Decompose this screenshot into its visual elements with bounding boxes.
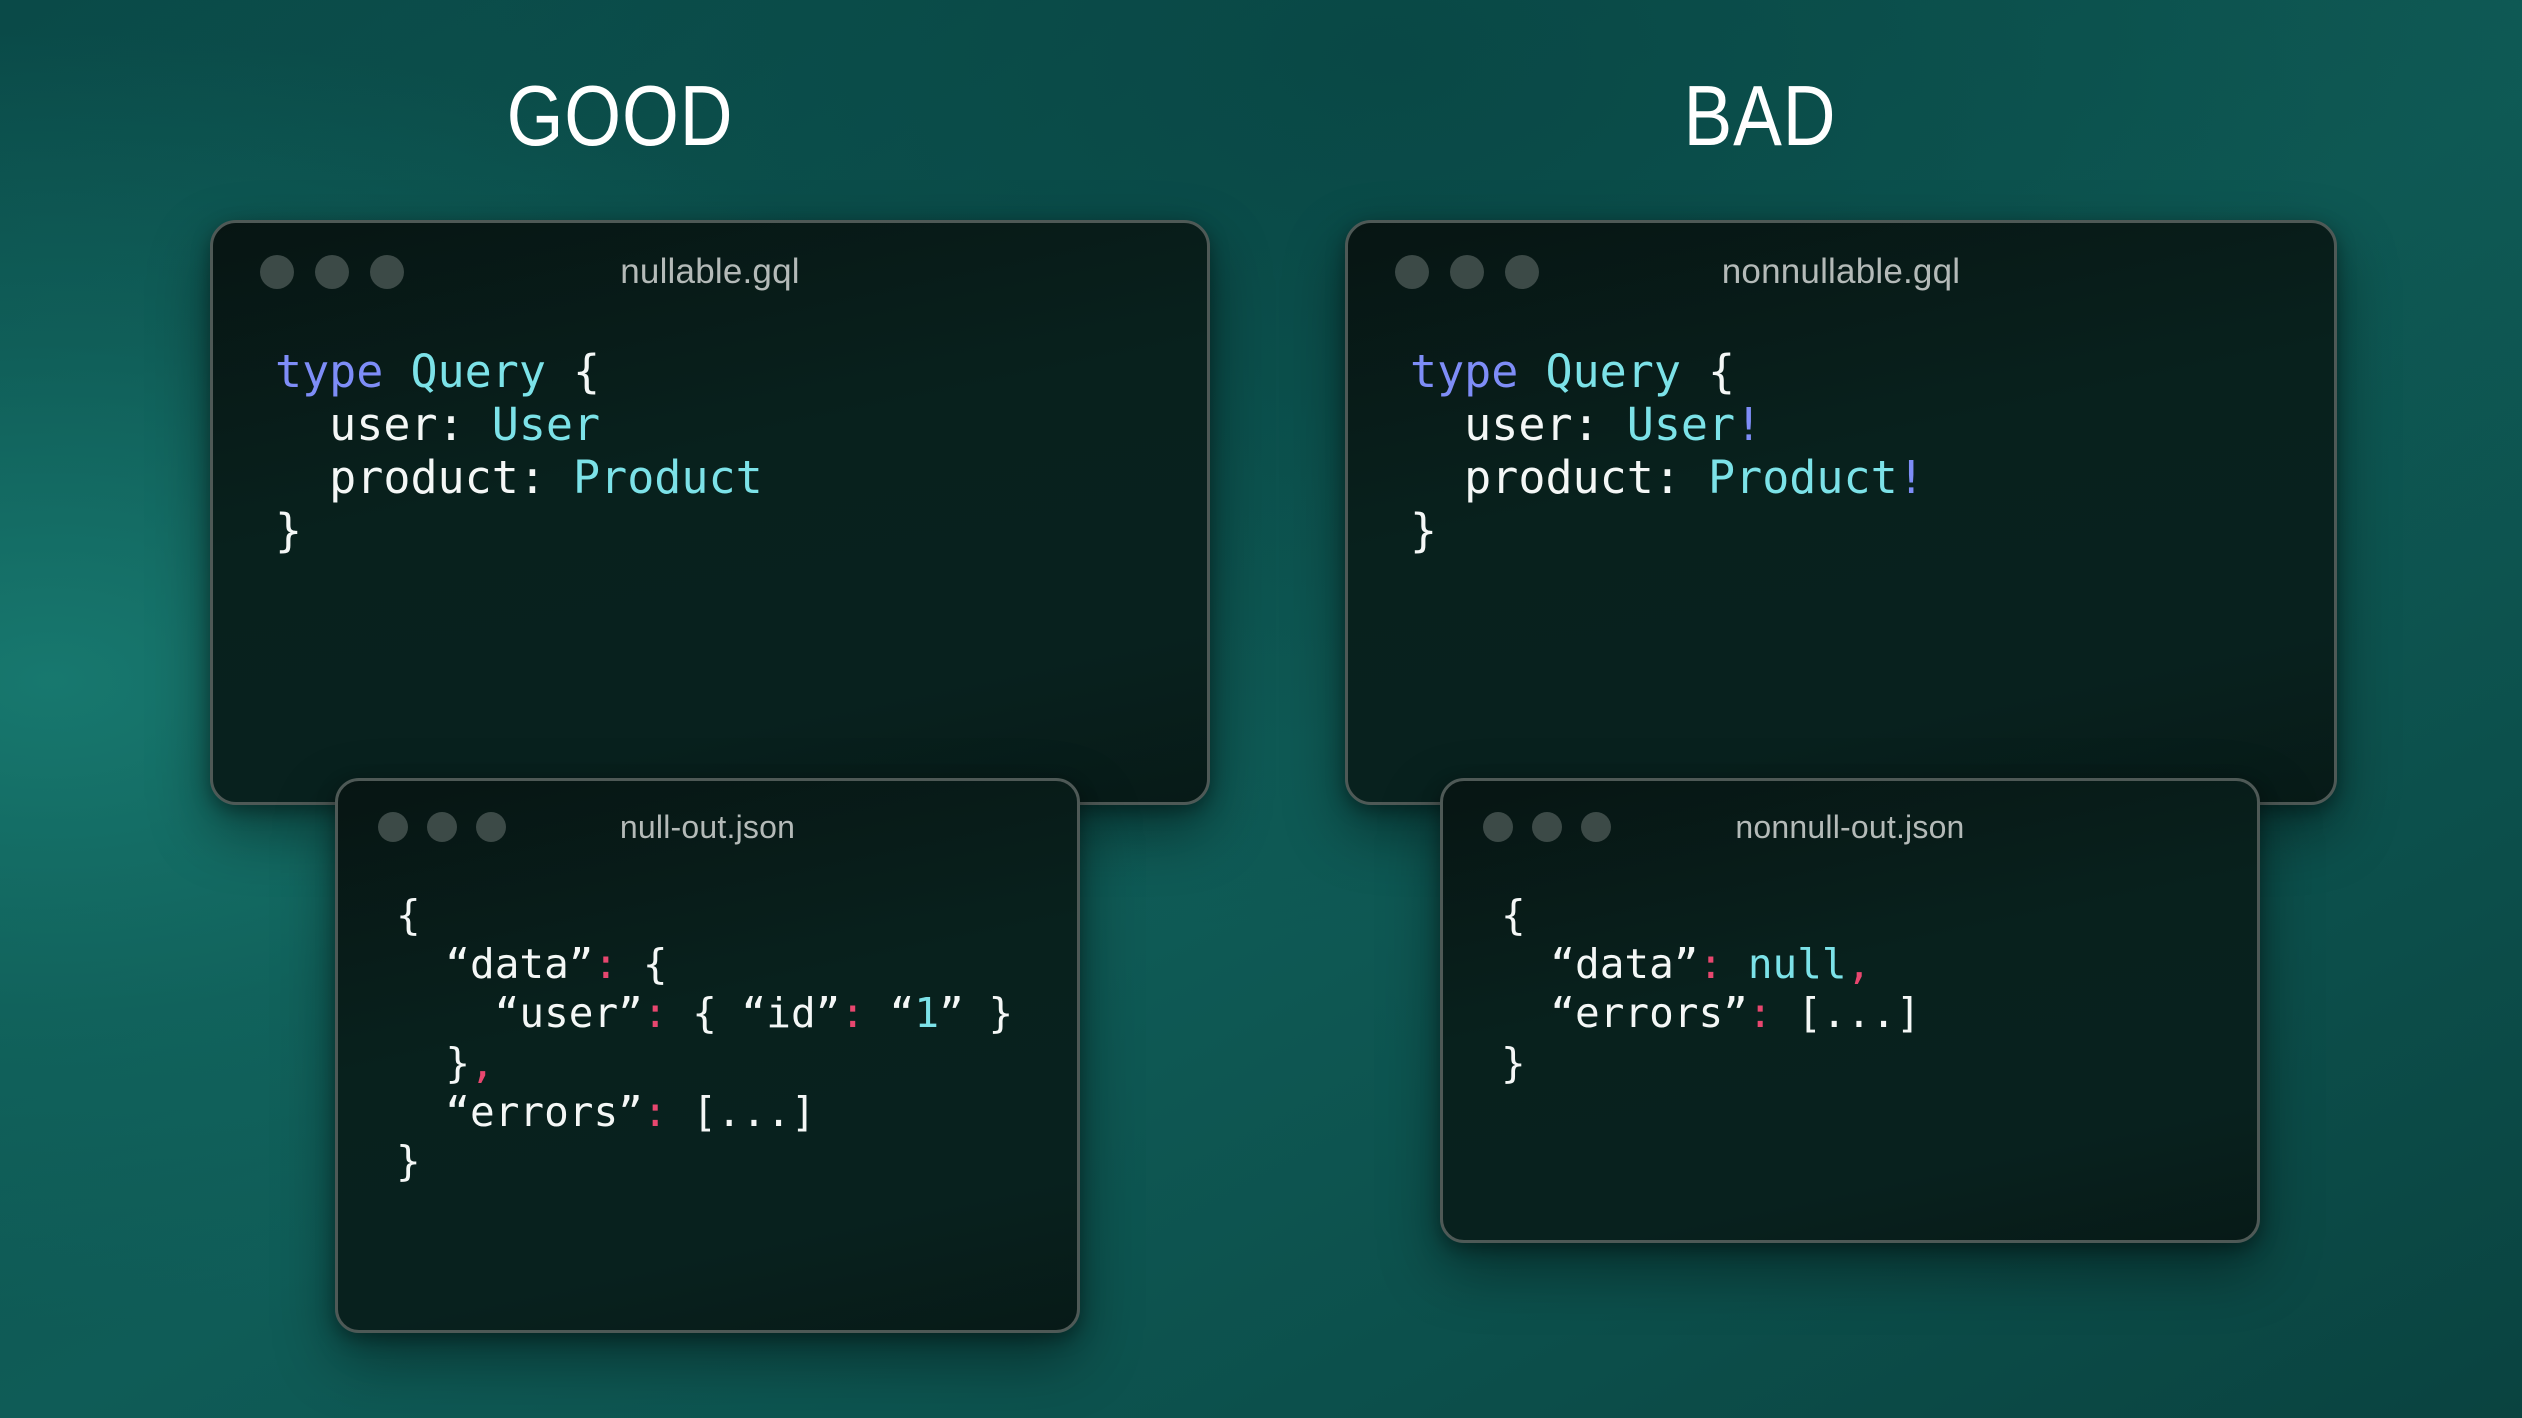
code-token: “id” bbox=[742, 989, 841, 1037]
code-token: Product bbox=[1708, 451, 1898, 504]
code-token: [...] bbox=[1773, 989, 1921, 1037]
code-token: } bbox=[396, 1039, 470, 1087]
code-line: “user”: { “id”: “1” } bbox=[396, 989, 1077, 1038]
code-token: type bbox=[1410, 345, 1518, 398]
window-body: type Query { user: User product: Product… bbox=[213, 321, 1207, 557]
code-token: Query bbox=[410, 345, 545, 398]
code-line: } bbox=[275, 504, 1207, 557]
minimize-dot-icon[interactable] bbox=[1532, 812, 1562, 842]
close-dot-icon[interactable] bbox=[1395, 255, 1429, 289]
close-dot-icon[interactable] bbox=[1483, 812, 1513, 842]
code-token: : bbox=[1748, 989, 1773, 1037]
window-body: { “data”: { “user”: { “id”: “1” } }, “er… bbox=[338, 873, 1077, 1186]
bad-panel-heading: BAD bbox=[1536, 74, 1983, 159]
minimize-dot-icon[interactable] bbox=[315, 255, 349, 289]
code-line: type Query { bbox=[275, 345, 1207, 398]
code-line: { bbox=[1501, 891, 2257, 940]
code-token: “user” bbox=[396, 989, 643, 1037]
code-token: user: bbox=[1410, 398, 1627, 451]
traffic-light-dots bbox=[1483, 812, 1611, 842]
code-line: “errors”: [...] bbox=[1501, 989, 2257, 1038]
close-dot-icon[interactable] bbox=[260, 255, 294, 289]
code-block: type Query { user: User! product: Produc… bbox=[1410, 345, 2334, 557]
code-block: type Query { user: User product: Product… bbox=[275, 345, 1207, 557]
code-token: : bbox=[593, 940, 618, 988]
code-token bbox=[1518, 345, 1545, 398]
traffic-light-dots bbox=[1395, 255, 1539, 289]
code-token: “errors” bbox=[396, 1088, 643, 1136]
code-token: “data” bbox=[396, 940, 593, 988]
code-line: type Query { bbox=[1410, 345, 2334, 398]
code-token: } bbox=[1501, 1039, 1526, 1087]
window-titlebar: nullable.gql bbox=[213, 223, 1207, 321]
bad-output-window: nonnull-out.json { “data”: null, “errors… bbox=[1440, 778, 2260, 1243]
window-titlebar: nonnull-out.json bbox=[1443, 781, 2257, 873]
comparison-canvas: GOOD BAD nullable.gql type Query { user:… bbox=[0, 0, 2522, 1418]
code-token: [...] bbox=[668, 1088, 816, 1136]
code-token: ” } bbox=[939, 989, 1013, 1037]
code-token: User bbox=[492, 398, 600, 451]
maximize-dot-icon[interactable] bbox=[1581, 812, 1611, 842]
good-panel-heading: GOOD bbox=[396, 74, 843, 159]
code-token: “data” bbox=[1501, 940, 1698, 988]
window-body: type Query { user: User! product: Produc… bbox=[1348, 321, 2334, 557]
traffic-light-dots bbox=[260, 255, 404, 289]
window-body: { “data”: null, “errors”: [...]} bbox=[1443, 873, 2257, 1088]
maximize-dot-icon[interactable] bbox=[370, 255, 404, 289]
code-token: type bbox=[275, 345, 383, 398]
code-token: : bbox=[840, 989, 865, 1037]
code-token: { bbox=[618, 940, 667, 988]
code-token: } bbox=[275, 504, 302, 557]
code-token: “errors” bbox=[1501, 989, 1748, 1037]
code-token: null bbox=[1748, 940, 1847, 988]
code-token: { bbox=[546, 345, 600, 398]
code-token: : bbox=[1698, 940, 1723, 988]
code-line: “errors”: [...] bbox=[396, 1088, 1077, 1137]
code-line: } bbox=[1501, 1039, 2257, 1088]
code-token: product: bbox=[1410, 451, 1708, 504]
close-dot-icon[interactable] bbox=[378, 812, 408, 842]
code-token: 1 bbox=[914, 989, 939, 1037]
code-block: { “data”: { “user”: { “id”: “1” } }, “er… bbox=[396, 891, 1077, 1186]
code-token: { bbox=[1681, 345, 1735, 398]
code-token: product: bbox=[275, 451, 573, 504]
minimize-dot-icon[interactable] bbox=[427, 812, 457, 842]
code-token bbox=[1723, 940, 1748, 988]
code-line: }, bbox=[396, 1039, 1077, 1088]
code-line: { bbox=[396, 891, 1077, 940]
code-token bbox=[383, 345, 410, 398]
code-token: , bbox=[1847, 940, 1872, 988]
code-token: User bbox=[1627, 398, 1735, 451]
window-titlebar: nonnullable.gql bbox=[1348, 223, 2334, 321]
code-token: ! bbox=[1898, 451, 1925, 504]
code-line: product: Product! bbox=[1410, 451, 2334, 504]
code-line: user: User bbox=[275, 398, 1207, 451]
code-token: } bbox=[1410, 504, 1437, 557]
code-token: “ bbox=[865, 989, 914, 1037]
code-line: “data”: { bbox=[396, 940, 1077, 989]
code-line: } bbox=[396, 1137, 1077, 1186]
traffic-light-dots bbox=[378, 812, 506, 842]
maximize-dot-icon[interactable] bbox=[476, 812, 506, 842]
code-token: user: bbox=[275, 398, 492, 451]
code-token: : bbox=[643, 1088, 668, 1136]
code-line: user: User! bbox=[1410, 398, 2334, 451]
code-line: } bbox=[1410, 504, 2334, 557]
code-block: { “data”: null, “errors”: [...]} bbox=[1501, 891, 2257, 1088]
code-token: : bbox=[643, 989, 668, 1037]
maximize-dot-icon[interactable] bbox=[1505, 255, 1539, 289]
code-line: product: Product bbox=[275, 451, 1207, 504]
minimize-dot-icon[interactable] bbox=[1450, 255, 1484, 289]
code-token: , bbox=[470, 1039, 495, 1087]
code-token: } bbox=[396, 1137, 421, 1185]
code-token: { bbox=[668, 989, 742, 1037]
code-token: ! bbox=[1735, 398, 1762, 451]
good-schema-window: nullable.gql type Query { user: User pro… bbox=[210, 220, 1210, 805]
code-token: Query bbox=[1545, 345, 1680, 398]
good-output-window: null-out.json { “data”: { “user”: { “id”… bbox=[335, 778, 1080, 1333]
code-line: “data”: null, bbox=[1501, 940, 2257, 989]
code-token: Product bbox=[573, 451, 763, 504]
code-token: { bbox=[396, 891, 421, 939]
code-token: { bbox=[1501, 891, 1526, 939]
window-titlebar: null-out.json bbox=[338, 781, 1077, 873]
bad-schema-window: nonnullable.gql type Query { user: User!… bbox=[1345, 220, 2337, 805]
